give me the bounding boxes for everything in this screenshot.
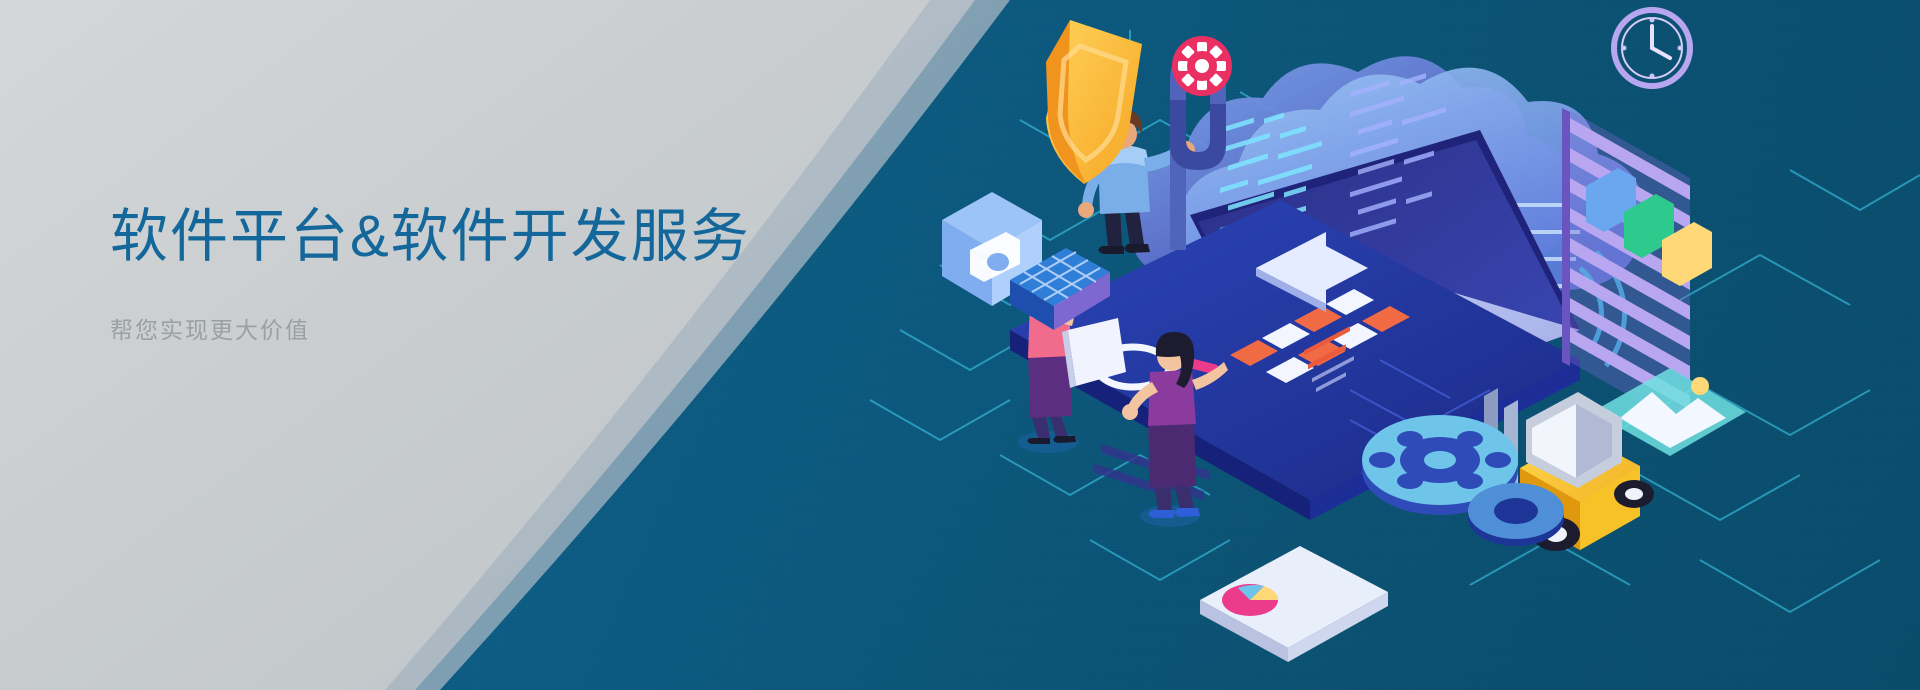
clock-icon — [1614, 10, 1690, 86]
hero-illustration — [880, 0, 1920, 690]
page-subtitle: 帮您实现更大价值 — [110, 311, 751, 345]
hero-text-block: 软件平台&软件开发服务 帮您实现更大价值 — [110, 205, 751, 345]
page-title: 软件平台&软件开发服务 — [110, 205, 751, 269]
hero-banner: 软件平台&软件开发服务 帮您实现更大价值 — [0, 0, 1920, 690]
gear-badge-icon — [1172, 36, 1232, 96]
